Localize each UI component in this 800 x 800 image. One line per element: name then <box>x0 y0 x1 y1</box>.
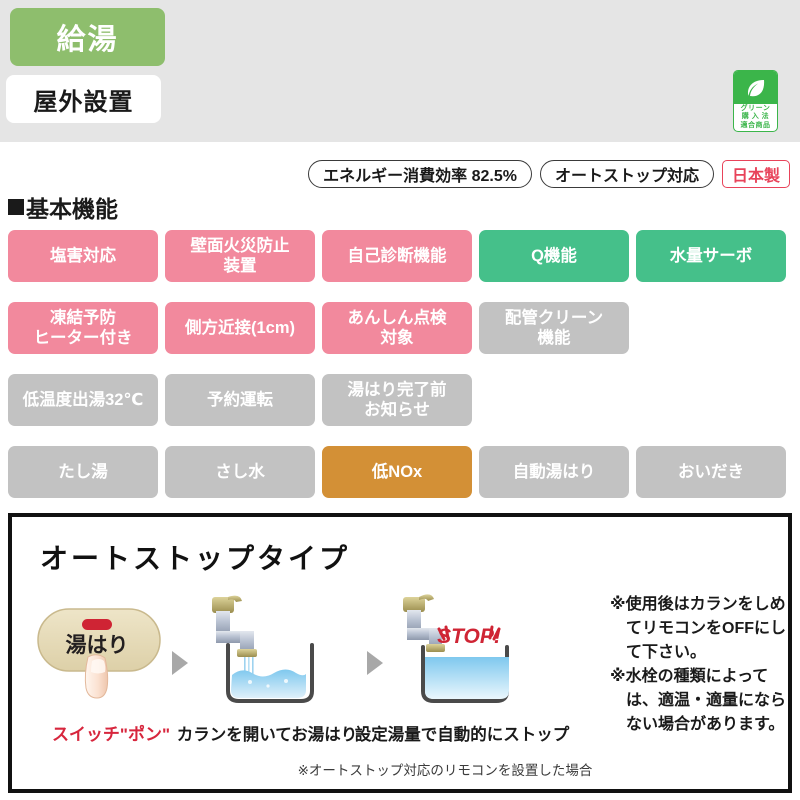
feature-tile: 配管クリーン機能 <box>479 302 629 354</box>
badge-row: エネルギー消費効率 82.5% オートストップ対応 日本製 <box>0 158 800 190</box>
feature-tile: 湯はり完了前お知らせ <box>322 374 472 426</box>
green-purchasing-law-logo: グリーン 購 入 法 適合商品 <box>733 70 778 132</box>
leaf-icon <box>734 71 777 104</box>
green-logo-line-1: グリーン <box>741 105 771 114</box>
badge-autostop-support: オートストップ対応 <box>540 160 714 188</box>
badge-autostop-support-label: オートストップ対応 <box>555 162 699 186</box>
installation-tag-label: 屋外設置 <box>34 82 134 117</box>
autostop-step-3: STOP! 設定湯量で自動的にストップ <box>377 589 547 749</box>
feature-tile: おいだき <box>636 446 786 498</box>
autostop-step-1-caption: スイッチ"ポン" <box>52 720 170 745</box>
autostop-step-3-caption: 設定湯量で自動的にストップ <box>355 721 570 745</box>
autostop-note-2: 水栓の種類によっては、適温・適量にならない場合があります。 <box>610 665 790 737</box>
autostop-notes: 使用後はカランをしめてリモコンをOFFにして下さい。 水栓の種類によっては、適温… <box>610 593 790 737</box>
square-bullet-icon <box>8 199 24 215</box>
feature-tile: 塩害対応 <box>8 230 158 282</box>
badge-energy-efficiency: エネルギー消費効率 82.5% <box>308 160 532 188</box>
feature-tile: 低NOx <box>322 446 472 498</box>
autostop-panel: オートストップタイプ <box>8 513 792 793</box>
green-logo-line-3: 適合商品 <box>741 122 771 131</box>
feature-tile: 低温度出湯32℃ <box>8 374 158 426</box>
installation-tag: 屋外設置 <box>6 75 161 123</box>
feature-tile: 予約運転 <box>165 374 315 426</box>
svg-text:湯はり: 湯はり <box>66 634 129 657</box>
category-tag: 給湯 <box>10 8 165 66</box>
feature-tile: 水量サーボ <box>636 230 786 282</box>
autostop-footnote: ※オートストップ対応のリモコンを設置した場合 <box>12 759 788 779</box>
feature-tile: Q機能 <box>479 230 629 282</box>
remote-switch-icon: 湯はり <box>26 589 196 717</box>
autostop-step-2: カランを開いてお湯はり <box>182 589 352 749</box>
category-tag-label: 給湯 <box>56 16 118 58</box>
product-spec-page: 給湯 屋外設置 グリーン 購 入 法 適合商品 エネルギー消費効率 82.5% … <box>0 0 800 800</box>
feature-tile: 自動湯はり <box>479 446 629 498</box>
autostop-note-1: 使用後はカランをしめてリモコンをOFFにして下さい。 <box>610 593 790 665</box>
autostop-step-1: 湯はり スイッチ"ポン" <box>26 589 196 749</box>
feature-tile: 自己診断機能 <box>322 230 472 282</box>
badge-made-in-japan-label: 日本製 <box>732 162 780 186</box>
autostop-step-2-caption: カランを開いてお湯はり <box>177 721 358 745</box>
header-band: 給湯 屋外設置 グリーン 購 入 法 適合商品 <box>0 0 800 142</box>
feature-grid: 塩害対応壁面火災防止装置自己診断機能Q機能水量サーボ凍結予防ヒーター付き側方近接… <box>8 230 792 498</box>
feature-tile: あんしん点検対象 <box>322 302 472 354</box>
feature-tile: たし湯 <box>8 446 158 498</box>
badge-energy-efficiency-label: エネルギー消費効率 82.5% <box>323 162 517 186</box>
faucet-filling-tub-icon <box>182 589 362 717</box>
feature-tile: 壁面火災防止装置 <box>165 230 315 282</box>
faucet-stopped-tub-icon: STOP! <box>377 589 587 717</box>
section-heading-label: 基本機能 <box>26 190 118 224</box>
green-logo-text: グリーン 購 入 法 適合商品 <box>741 104 771 131</box>
badge-made-in-japan: 日本製 <box>722 160 790 188</box>
feature-tile: さし水 <box>165 446 315 498</box>
feature-tile: 側方近接(1cm) <box>165 302 315 354</box>
green-logo-line-2: 購 入 法 <box>742 113 769 122</box>
section-heading: 基本機能 <box>8 190 118 224</box>
autostop-title: オートストップタイプ <box>40 537 350 577</box>
feature-tile: 凍結予防ヒーター付き <box>8 302 158 354</box>
autostop-steps: 湯はり スイッチ"ポン" <box>22 589 602 749</box>
